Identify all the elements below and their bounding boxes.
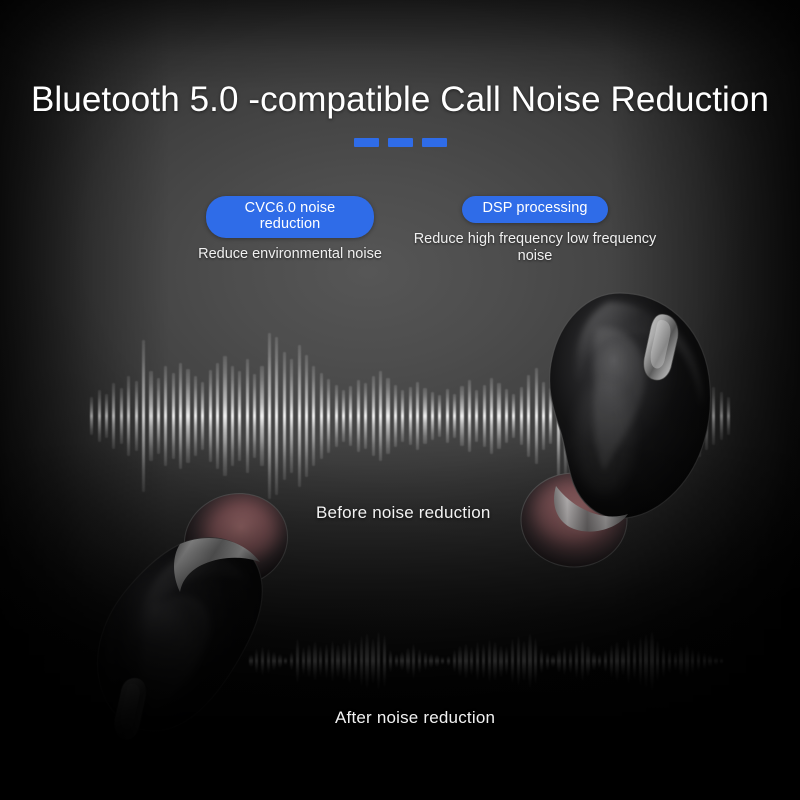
- feature-dsp-caption: Reduce high frequency low frequency nois…: [400, 231, 670, 265]
- feature-dsp: DSP processing Reduce high frequency low…: [400, 196, 670, 265]
- page-title: Bluetooth 5.0 -compatible Call Noise Red…: [0, 80, 800, 120]
- feature-dsp-badge: DSP processing: [462, 196, 607, 223]
- feature-cvc: CVC6.0 noise reduction Reduce environmen…: [160, 196, 420, 263]
- feature-list: CVC6.0 noise reduction Reduce environmen…: [0, 196, 800, 286]
- blue-dashes-divider: [0, 138, 800, 147]
- dash-2: [388, 138, 413, 147]
- feature-cvc-caption: Reduce environmental noise: [160, 246, 420, 263]
- product-banner: Bluetooth 5.0 -compatible Call Noise Red…: [0, 0, 800, 800]
- dash-1: [354, 138, 379, 147]
- vignette-radial: [0, 0, 800, 800]
- label-after-noise-reduction: After noise reduction: [335, 708, 495, 728]
- dash-3: [422, 138, 447, 147]
- label-before-noise-reduction: Before noise reduction: [316, 503, 491, 523]
- feature-cvc-badge: CVC6.0 noise reduction: [206, 196, 374, 238]
